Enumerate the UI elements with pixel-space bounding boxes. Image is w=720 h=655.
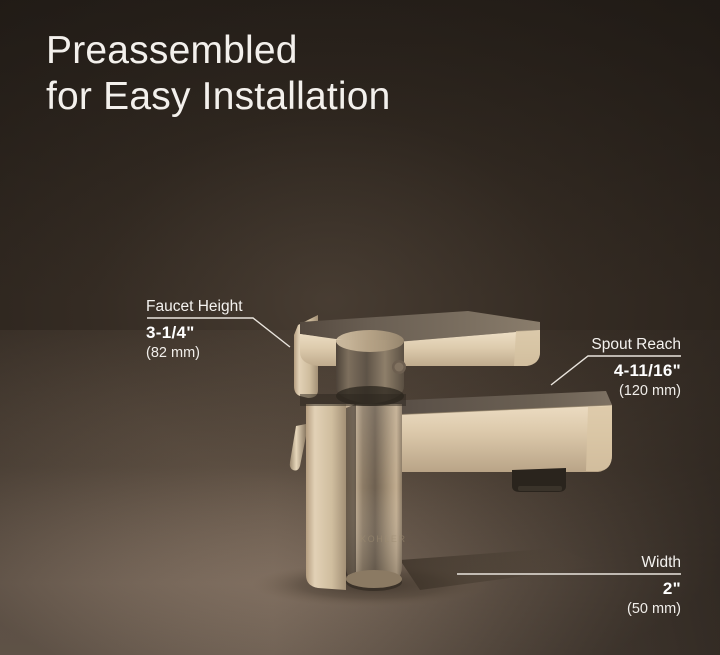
product-image-canvas: Preassembled for Easy Installation xyxy=(0,0,720,655)
callout-width-label: Width xyxy=(457,553,681,572)
callout-width: Width 2" (50 mm) xyxy=(457,553,681,619)
callout-width-imperial: 2" xyxy=(457,578,681,600)
callout-width-metric: (50 mm) xyxy=(457,600,681,618)
